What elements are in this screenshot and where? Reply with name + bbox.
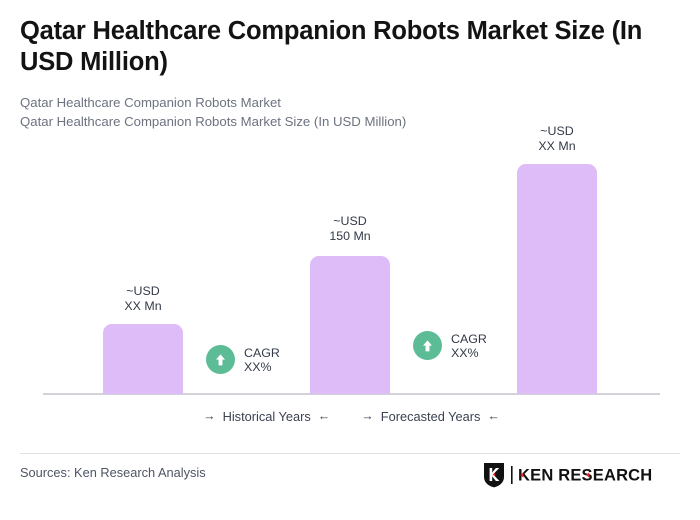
bar-value-label-historical-line2: XX Mn bbox=[83, 299, 203, 314]
bar-value-label-historical: ~USD XX Mn bbox=[83, 284, 203, 313]
bar-value-label-forecast-line2: XX Mn bbox=[497, 139, 617, 154]
arrow-right-icon: → bbox=[361, 410, 374, 423]
bar-value-label-mid-line2: 150 Mn bbox=[290, 229, 410, 244]
bar-mid bbox=[310, 256, 390, 394]
cagr-annotation-1-line2: XX% bbox=[244, 360, 280, 374]
page-title: Qatar Healthcare Companion Robots Market… bbox=[20, 16, 670, 78]
arrow-left-icon: ← bbox=[487, 410, 500, 423]
arrow-left-icon: ← bbox=[318, 410, 331, 423]
cagr-annotation-2-line2: XX% bbox=[451, 346, 487, 360]
bar-value-label-mid-line1: ~USD bbox=[290, 214, 410, 229]
bar-historical bbox=[103, 324, 183, 394]
sources-text: Sources: Ken Research Analysis bbox=[20, 465, 206, 480]
period-legend-forecast-label: Forecasted Years bbox=[381, 409, 481, 424]
bar-value-label-forecast-line1: ~USD bbox=[497, 124, 617, 139]
period-legend-historical-label: Historical Years bbox=[223, 409, 311, 424]
ken-research-wordmark: KEN RESEARCH bbox=[511, 465, 663, 490]
ken-research-shield-icon bbox=[483, 462, 505, 493]
bar-value-label-forecast: ~USD XX Mn bbox=[497, 124, 617, 153]
bar-forecast bbox=[517, 164, 597, 394]
cagr-annotation-1: CAGR XX% bbox=[206, 345, 280, 374]
bar-value-label-mid: ~USD 150 Mn bbox=[290, 214, 410, 243]
subtitle-line-1: Qatar Healthcare Companion Robots Market bbox=[20, 93, 670, 112]
arrow-up-icon bbox=[206, 345, 235, 374]
cagr-annotation-2-text: CAGR XX% bbox=[451, 332, 487, 360]
period-legend: → Historical Years ← → Forecasted Years … bbox=[43, 409, 660, 424]
ken-research-logo: KEN RESEARCH bbox=[483, 462, 663, 493]
period-legend-forecast: → Forecasted Years ← bbox=[361, 409, 500, 424]
chart-page: Qatar Healthcare Companion Robots Market… bbox=[0, 0, 700, 520]
bar-value-label-historical-line1: ~USD bbox=[83, 284, 203, 299]
footer-divider bbox=[20, 453, 680, 454]
arrow-right-icon: → bbox=[203, 410, 216, 423]
cagr-annotation-2-line1: CAGR bbox=[451, 332, 487, 346]
cagr-annotation-1-line1: CAGR bbox=[244, 346, 280, 360]
svg-text:KEN RESEARCH: KEN RESEARCH bbox=[518, 467, 652, 485]
arrow-up-icon bbox=[413, 331, 442, 360]
cagr-annotation-2: CAGR XX% bbox=[413, 331, 487, 360]
period-legend-historical: → Historical Years ← bbox=[203, 409, 330, 424]
cagr-annotation-1-text: CAGR XX% bbox=[244, 346, 280, 374]
chart-header: Qatar Healthcare Companion Robots Market… bbox=[20, 16, 670, 131]
